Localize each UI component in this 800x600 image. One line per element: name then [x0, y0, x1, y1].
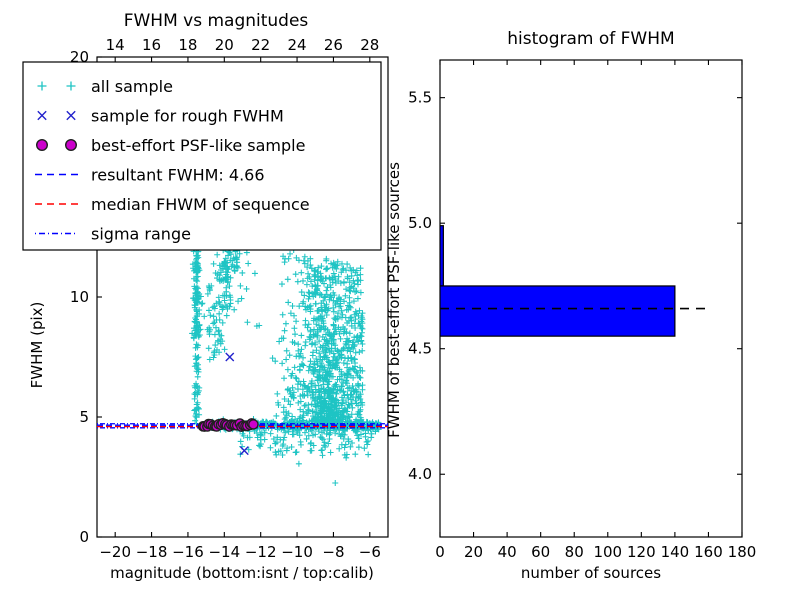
left-xtick-top: 22	[251, 36, 270, 54]
left-xtick-bottom: −16	[172, 543, 204, 561]
matplotlib-figure: FWHM vs magnitudes −20−18−16−14−12−10−8−…	[0, 0, 800, 600]
right-xtick: 60	[531, 543, 550, 561]
legend-label: sigma range	[91, 225, 191, 244]
legend: all samplesample for rough FWHMbest-effo…	[23, 62, 381, 250]
right-xtick: 100	[593, 543, 622, 561]
right-xtick: 120	[627, 543, 656, 561]
left-ytick: 10	[70, 288, 89, 306]
left-xtick-bottom: −10	[281, 543, 313, 561]
right-xtick: 140	[661, 543, 690, 561]
left-xtick-bottom: −14	[208, 543, 240, 561]
left-xtick-top: 14	[106, 36, 125, 54]
left-yaxis-label: FWHM (pix)	[28, 302, 46, 389]
histogram-bar	[440, 286, 675, 336]
right-xtick: 40	[498, 543, 517, 561]
right-ytick: 4.5	[408, 340, 432, 358]
left-xtick-top: 18	[178, 36, 197, 54]
right-xtick: 160	[694, 543, 723, 561]
right-xaxis-label: number of sources	[521, 564, 661, 582]
legend-label: resultant FWHM: 4.66	[91, 166, 265, 185]
left-panel-title: FWHM vs magnitudes	[124, 11, 309, 31]
left-xtick-bottom: −8	[322, 543, 344, 561]
left-xtick-bottom: −20	[99, 543, 131, 561]
legend-label: best-effort PSF-like sample	[91, 136, 305, 155]
histogram-bar	[440, 226, 443, 286]
legend-marker-circle	[37, 140, 48, 151]
left-xtick-bottom: −6	[359, 543, 381, 561]
left-xaxis-label: magnitude (bottom:isnt / top:calib)	[110, 564, 374, 582]
left-ytick: 0	[79, 528, 89, 546]
right-xtick: 20	[464, 543, 483, 561]
right-panel-title: histogram of FWHM	[507, 29, 674, 49]
left-xtick-bottom: −12	[245, 543, 277, 561]
left-xtick-top: 24	[288, 36, 307, 54]
figure-canvas: FWHM vs magnitudes −20−18−16−14−12−10−8−…	[0, 0, 800, 600]
right-xtick: 180	[728, 543, 757, 561]
right-xtick: 0	[435, 543, 445, 561]
right-yaxis-label: FWHM of best-effort PSF-like sources	[385, 162, 403, 438]
left-xtick-top: 26	[324, 36, 343, 54]
legend-marker-circle	[66, 140, 77, 151]
right-ytick: 5.0	[408, 214, 432, 232]
left-ytick: 5	[79, 408, 89, 426]
legend-box	[23, 62, 381, 250]
left-xtick-top: 20	[215, 36, 234, 54]
left-xtick-top: 16	[142, 36, 161, 54]
right-ytick: 4.0	[408, 465, 432, 483]
legend-label: sample for rough FWHM	[91, 107, 284, 126]
left-xtick-top: 28	[360, 36, 379, 54]
left-xtick-bottom: −18	[136, 543, 168, 561]
scatter-series-psf-like	[198, 419, 258, 431]
right-xtick: 80	[565, 543, 584, 561]
legend-label: all sample	[91, 77, 173, 96]
legend-label: median FHWM of sequence	[91, 195, 310, 214]
right-ytick: 5.5	[408, 89, 432, 107]
